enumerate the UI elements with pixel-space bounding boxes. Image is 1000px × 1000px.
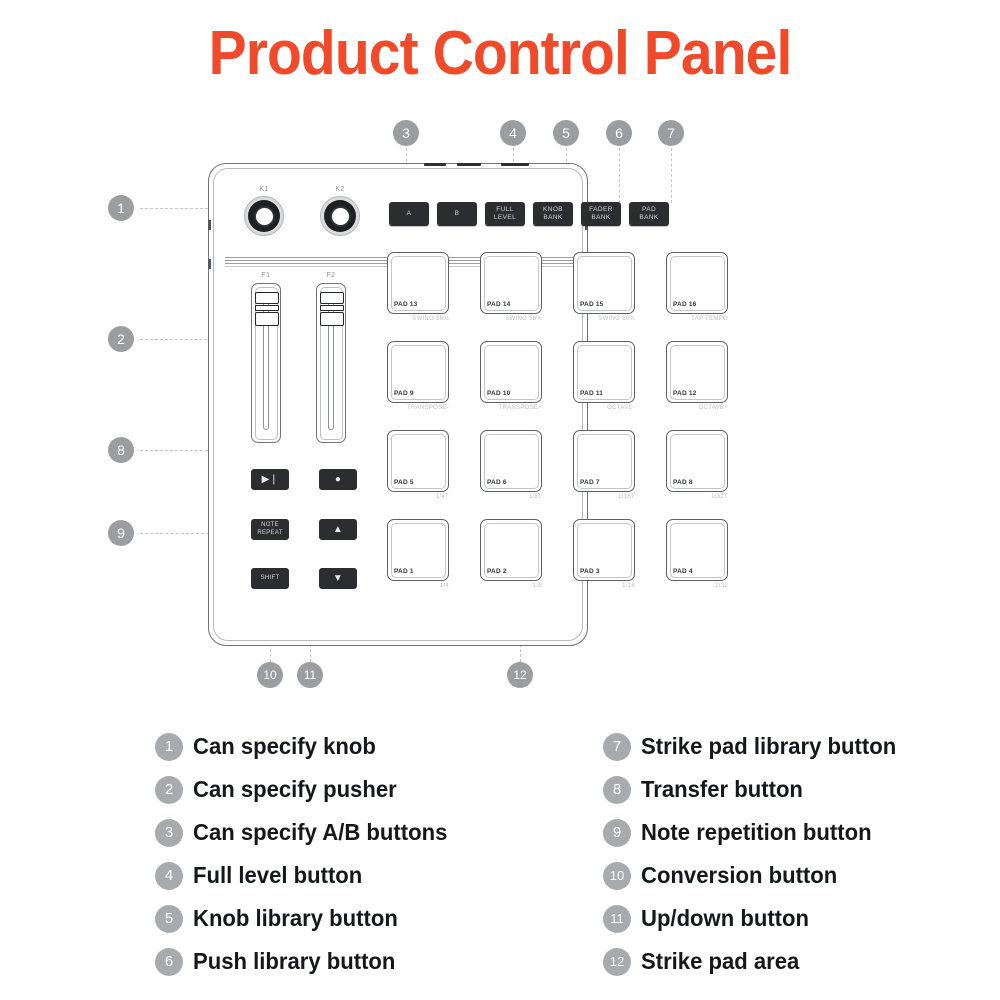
callout-marker-4[interactable]: 4 [500,120,526,146]
pad-14-label: PAD 14 [487,301,510,308]
a-button-label: A [407,210,412,218]
knob-label-k2: K2 [325,186,355,193]
note-repeat-line2: REPEAT [257,530,282,537]
legend-number-7: 7 [603,733,631,761]
leader-line-6-stem [619,148,620,203]
legend-item-7: 7 Strike pad library button [603,725,907,768]
fader-bank-line2: BANK [591,214,610,222]
callout-marker-8[interactable]: 8 [108,437,134,463]
legend-item-12: 12 Strike pad area [603,940,907,983]
fader-f2-cap[interactable] [320,292,344,326]
pad-2[interactable]: PAD 2 [480,519,542,581]
legend-column-left: 1 Can specify knob 2 Can specify pusher … [155,725,458,983]
pad-bank-line2: BANK [639,214,658,222]
pad-11-sub: OCTAVE- [573,405,635,411]
callout-marker-6[interactable]: 6 [606,120,632,146]
fader-f1[interactable] [251,283,281,443]
pad-14[interactable]: PAD 14 [480,252,542,314]
legend-label-3: Can specify A/B buttons [193,819,447,846]
pad-4[interactable]: PAD 4 [666,519,728,581]
legend-label-8: Transfer button [641,776,803,803]
legend-number-10: 10 [603,862,631,890]
knob-bank-line1: KNOB [543,206,563,214]
legend-label-2: Can specify pusher [193,776,397,803]
top-notch-3 [501,163,529,166]
callout-marker-1[interactable]: 1 [108,195,134,221]
legend-label-11: Up/down button [641,905,809,932]
pad-3-label: PAD 3 [580,568,600,575]
pad-2-sub: 1/8 [480,583,542,589]
callout-marker-10[interactable]: 10 [257,662,283,688]
fader-bank-button[interactable]: FADER BANK [581,202,621,226]
pad-4-sub: 1/32 [666,583,728,589]
fader-bank-line1: FADER [589,206,613,214]
pad-6-sub: 1/8T [480,494,542,500]
legend-number-6: 6 [155,948,183,976]
legend-label-6: Push library button [193,948,395,975]
page-root: Product Control Panel K1 [0,0,1000,1000]
legend-item-3: 3 Can specify A/B buttons [155,811,458,854]
note-repeat-line1: NOTE [261,522,279,529]
pad-1-sub: 1/4 [387,583,449,589]
legend-label-5: Knob library button [193,905,398,932]
pad-3-sub: 1/16 [573,583,635,589]
callout-marker-11[interactable]: 11 [297,662,323,688]
legend-number-1: 1 [155,733,183,761]
full-level-line2: LEVEL [494,214,516,222]
down-button[interactable]: ▼ [319,568,357,589]
side-tick-left [208,220,211,230]
legend: 1 Can specify knob 2 Can specify pusher … [0,725,1000,1000]
legend-item-5: 5 Knob library button [155,897,458,940]
knob-k2-cap [330,206,351,227]
top-notch-1 [424,163,446,166]
legend-label-12: Strike pad area [641,948,799,975]
full-level-line1: FULL [496,206,514,214]
pad-1[interactable]: PAD 1 [387,519,449,581]
legend-item-10: 10 Conversion button [603,854,907,897]
pad-bank-button[interactable]: PAD BANK [629,202,669,226]
knob-k1-ring [248,200,280,232]
up-button[interactable]: ▲ [319,519,357,540]
pad-5-label: PAD 5 [394,479,414,486]
legend-item-8: 8 Transfer button [603,768,907,811]
legend-number-2: 2 [155,776,183,804]
pad-12[interactable]: PAD 12 [666,341,728,403]
pad-8[interactable]: PAD 8 [666,430,728,492]
pad-5[interactable]: PAD 5 [387,430,449,492]
pad-14-sub: SWING 58% [480,316,542,322]
full-level-button[interactable]: FULL LEVEL [485,202,525,226]
top-notch-2 [457,163,481,166]
note-repeat-button[interactable]: NOTE REPEAT [251,519,289,540]
pad-15[interactable]: PAD 15 [573,252,635,314]
legend-label-7: Strike pad library button [641,733,896,760]
fader-f2[interactable] [316,283,346,443]
page-title: Product Control Panel [40,18,960,89]
pad-7-label: PAD 7 [580,479,600,486]
knob-k1[interactable] [244,196,284,236]
pad-8-label: PAD 8 [673,479,693,486]
knob-label-k1: K1 [249,186,279,193]
legend-item-11: 11 Up/down button [603,897,907,940]
legend-number-9: 9 [603,819,631,847]
legend-label-10: Conversion button [641,862,837,889]
pad-5-sub: 1/4T [387,494,449,500]
down-arrow-icon: ▼ [333,573,343,585]
legend-item-6: 6 Push library button [155,940,458,983]
pad-3[interactable]: PAD 3 [573,519,635,581]
play-pause-button[interactable]: ▶❘ [251,469,289,490]
pad-10-sub: TRANSPOSE+ [480,405,542,411]
pad-12-sub: OCTAVE+ [666,405,728,411]
knob-bank-button[interactable]: KNOB BANK [533,202,573,226]
up-arrow-icon: ▲ [333,524,343,536]
pad-13[interactable]: PAD 13 [387,252,449,314]
pad-15-label: PAD 15 [580,301,603,308]
pad-16[interactable]: PAD 16 [666,252,728,314]
b-button[interactable]: B [437,202,477,226]
pad-9-label: PAD 9 [394,390,414,397]
pad-6-label: PAD 6 [487,479,507,486]
record-button[interactable]: ● [319,469,357,490]
pad-12-label: PAD 12 [673,390,696,397]
pad-15-sub: SWING 60% [573,316,635,322]
legend-item-9: 9 Note repetition button [603,811,907,854]
pad-9-sub: TRANSPOSE- [387,405,449,411]
pad-8-sub: 1/32T [666,494,728,500]
callout-marker-2[interactable]: 2 [108,326,134,352]
pad-bank-line1: PAD [642,206,656,214]
shift-button[interactable]: SHIFT [251,568,289,589]
legend-number-12: 12 [603,948,631,976]
fader-label-f1: F1 [251,272,281,279]
pad-16-sub: TAP TEMPO [666,316,728,322]
pad-11-label: PAD 11 [580,390,603,397]
legend-item-1: 1 Can specify knob [155,725,458,768]
legend-item-2: 2 Can specify pusher [155,768,458,811]
callout-marker-9[interactable]: 9 [108,520,134,546]
legend-number-5: 5 [155,905,183,933]
legend-label-9: Note repetition button [641,819,872,846]
shift-label: SHIFT [261,575,280,582]
callout-marker-12[interactable]: 12 [507,662,533,688]
legend-item-4: 4 Full level button [155,854,458,897]
legend-label-4: Full level button [193,862,362,889]
legend-number-3: 3 [155,819,183,847]
pad-16-label: PAD 16 [673,301,696,308]
pad-7-sub: 1/16T [573,494,635,500]
pad-13-label: PAD 13 [394,301,417,308]
pad-10[interactable]: PAD 10 [480,341,542,403]
device-shell: K1 K2 A B FULL LEVEL KNOB BANK [208,163,588,646]
midi-controller-device: K1 K2 A B FULL LEVEL KNOB BANK [208,163,588,646]
knob-k2-ring [324,200,356,232]
a-button[interactable]: A [389,202,429,226]
knob-bank-line2: BANK [543,214,562,222]
pad-6[interactable]: PAD 6 [480,430,542,492]
legend-label-1: Can specify knob [193,733,376,760]
leader-line-7-stem [671,148,672,203]
record-icon: ● [335,474,341,486]
pad-7[interactable]: PAD 7 [573,430,635,492]
pad-2-label: PAD 2 [487,568,507,575]
b-button-label: B [455,210,460,218]
legend-number-11: 11 [603,905,631,933]
legend-number-4: 4 [155,862,183,890]
knob-k1-cap [254,206,275,227]
pad-1-label: PAD 1 [394,568,414,575]
legend-number-8: 8 [603,776,631,804]
pad-11[interactable]: PAD 11 [573,341,635,403]
pad-10-label: PAD 10 [487,390,510,397]
fader-f1-cap[interactable] [255,292,279,326]
callout-marker-3[interactable]: 3 [393,120,419,146]
callout-marker-7[interactable]: 7 [658,120,684,146]
pad-4-label: PAD 4 [673,568,693,575]
pad-9[interactable]: PAD 9 [387,341,449,403]
callout-marker-5[interactable]: 5 [553,120,579,146]
pad-13-sub: SWING 56% [387,316,449,322]
fader-label-f2: F2 [316,272,346,279]
legend-column-right: 7 Strike pad library button 8 Transfer b… [603,725,907,983]
play-pause-icon: ▶❘ [262,474,279,486]
side-tick-left-2 [208,259,211,269]
knob-k2[interactable] [320,196,360,236]
